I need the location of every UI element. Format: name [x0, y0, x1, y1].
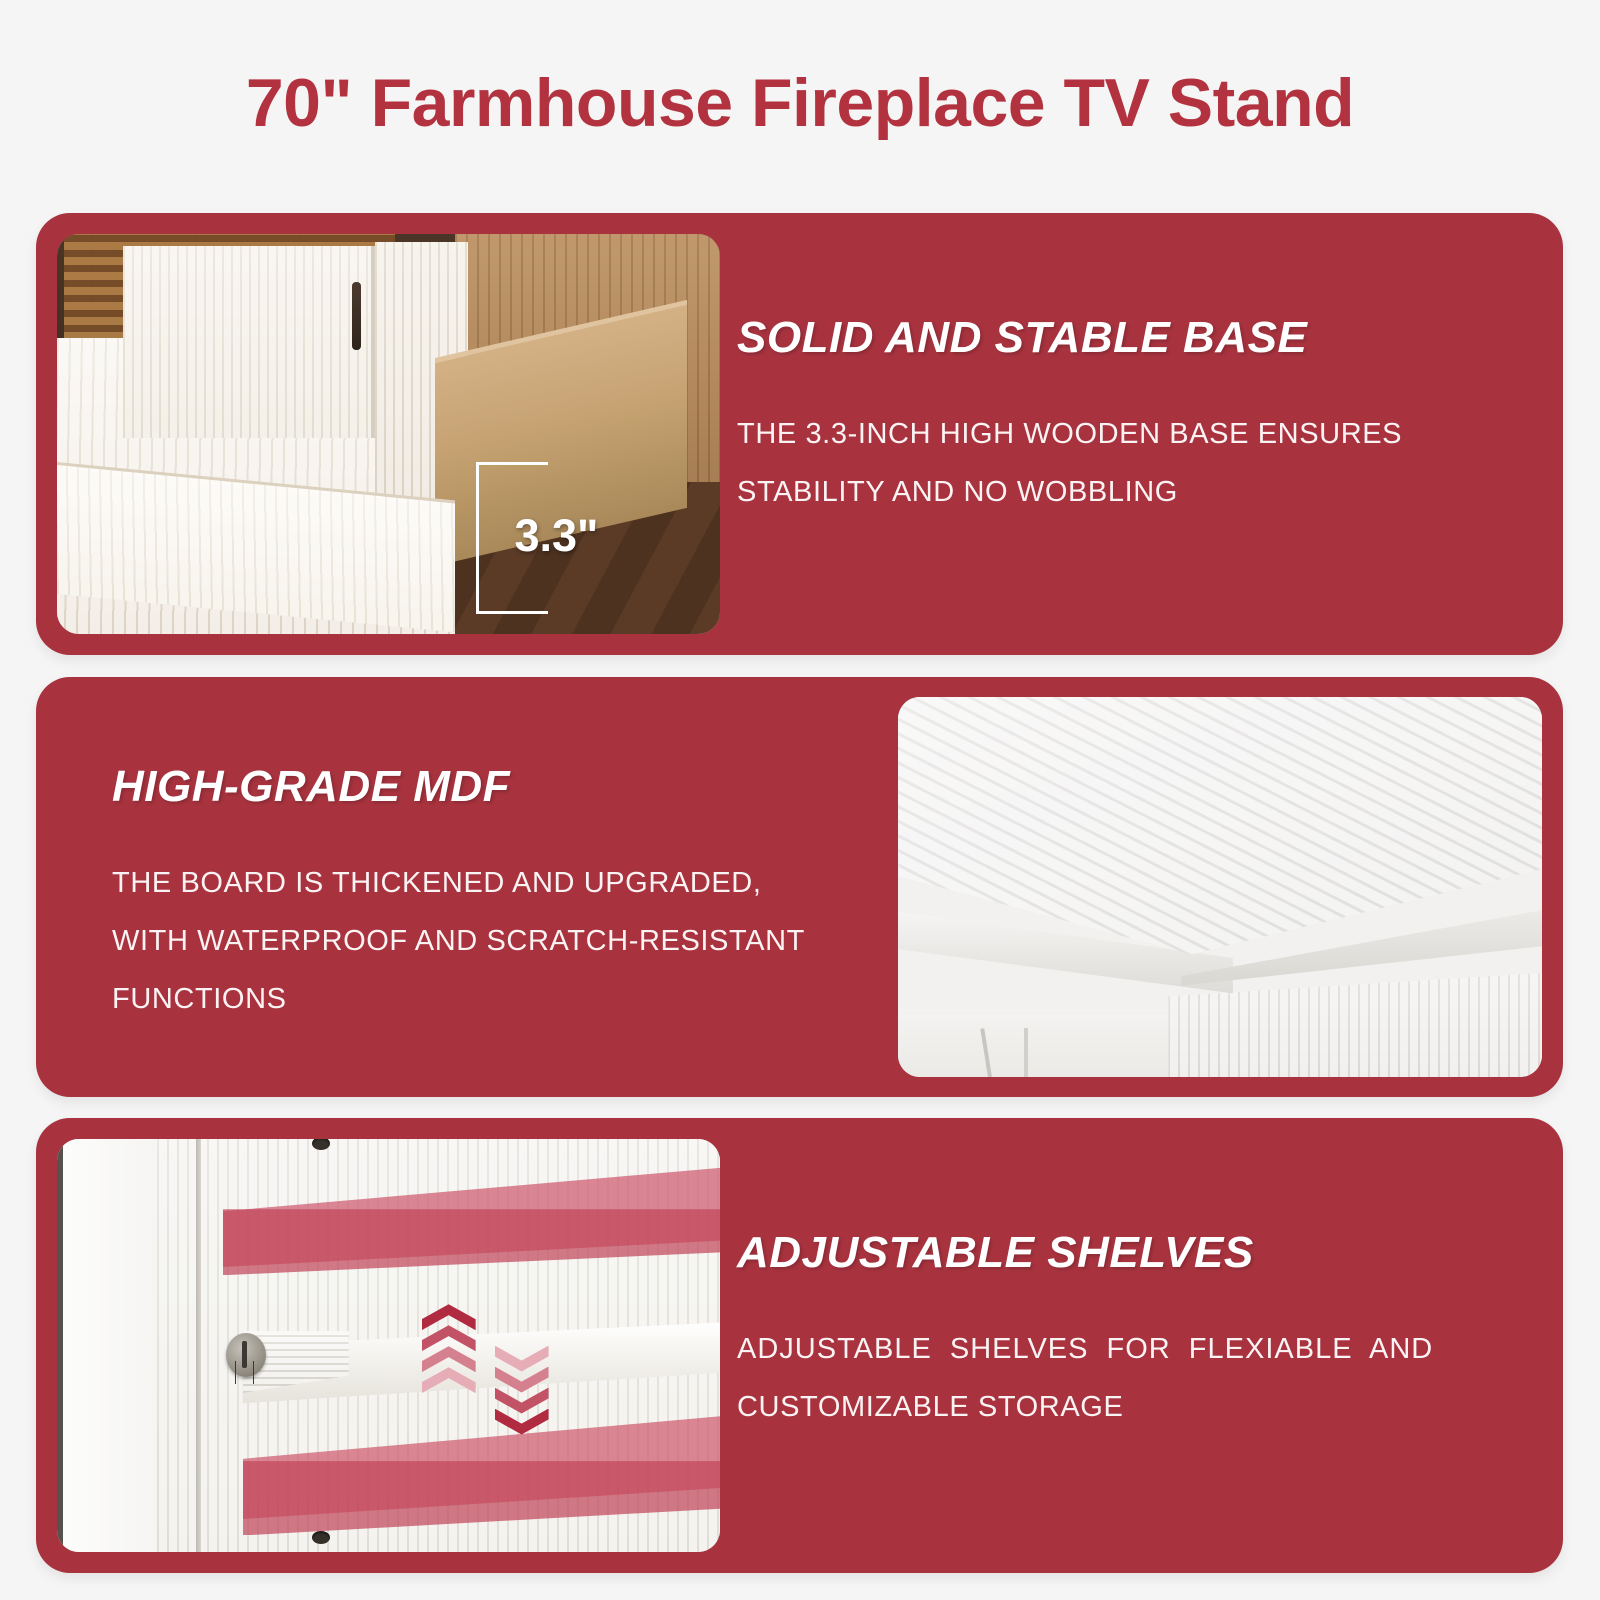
- shelf-pin-hole: [312, 1531, 330, 1544]
- feature-body-line: STABILITY AND NO WOBBLING: [737, 463, 1527, 521]
- feature-body-line: CUSTOMIZABLE STORAGE: [737, 1378, 1527, 1436]
- feature-copy-solid-base: SOLID AND STABLE BASE THE 3.3-INCH HIGH …: [737, 313, 1527, 521]
- cabinet-door: [123, 246, 375, 438]
- feature-copy-adjustable-shelves: ADJUSTABLE SHELVES ADJUSTABLE SHELVES FO…: [737, 1228, 1527, 1436]
- feature-body-line: FUNCTIONS: [112, 970, 902, 1028]
- feature-panel-adjustable-shelves: ADJUSTABLE SHELVES ADJUSTABLE SHELVES FO…: [36, 1118, 1563, 1573]
- feature-body-line: THE 3.3-INCH HIGH WOODEN BASE ENSURES: [737, 405, 1527, 463]
- chevron-up-arrows-icon: [422, 1304, 482, 1388]
- shelf-support-pin: [226, 1333, 266, 1377]
- page-title: 70" Farmhouse Fireplace TV Stand: [0, 64, 1600, 142]
- feature-body-line: WITH WATERPROOF AND SCRATCH-RESISTANT: [112, 912, 902, 970]
- feature-body-line: THE BOARD IS THICKENED AND UPGRADED,: [112, 854, 902, 912]
- dimension-cap-bottom: [476, 611, 548, 614]
- chevron-down-arrows-icon: [495, 1346, 555, 1430]
- chevron-down-icon: [495, 1346, 549, 1372]
- infographic-page: 70" Farmhouse Fireplace TV Stand 3.3" SO…: [0, 0, 1600, 1600]
- product-photo-tabletop-corner: [898, 697, 1542, 1077]
- feature-panel-high-grade-mdf: HIGH-GRADE MDF THE BOARD IS THICKENED AN…: [36, 677, 1563, 1097]
- feature-heading-high-grade-mdf: HIGH-GRADE MDF: [112, 762, 902, 812]
- panel-seam: [196, 1139, 201, 1552]
- feature-heading-adjustable-shelves: ADJUSTABLE SHELVES: [737, 1228, 1527, 1278]
- feature-heading-solid-base: SOLID AND STABLE BASE: [737, 313, 1527, 363]
- table-leg-right: [1024, 1028, 1028, 1077]
- cabinet-left-wall: [57, 1139, 156, 1552]
- dimension-line: [476, 462, 479, 614]
- feature-body-line: ADJUSTABLE SHELVES FOR FLEXIABLE AND: [737, 1320, 1527, 1378]
- feature-copy-high-grade-mdf: HIGH-GRADE MDF THE BOARD IS THICKENED AN…: [112, 762, 902, 1028]
- product-photo-base-corner: 3.3": [57, 234, 720, 634]
- dimension-label-3-3-inch: 3.3": [514, 510, 598, 562]
- door-handle: [352, 282, 361, 350]
- product-photo-adjustable-shelf: [57, 1139, 720, 1552]
- dimension-cap-top: [476, 462, 548, 465]
- tabletop-underside: [898, 1009, 1194, 1077]
- feature-panel-solid-base: 3.3" SOLID AND STABLE BASE THE 3.3-INCH …: [36, 213, 1563, 655]
